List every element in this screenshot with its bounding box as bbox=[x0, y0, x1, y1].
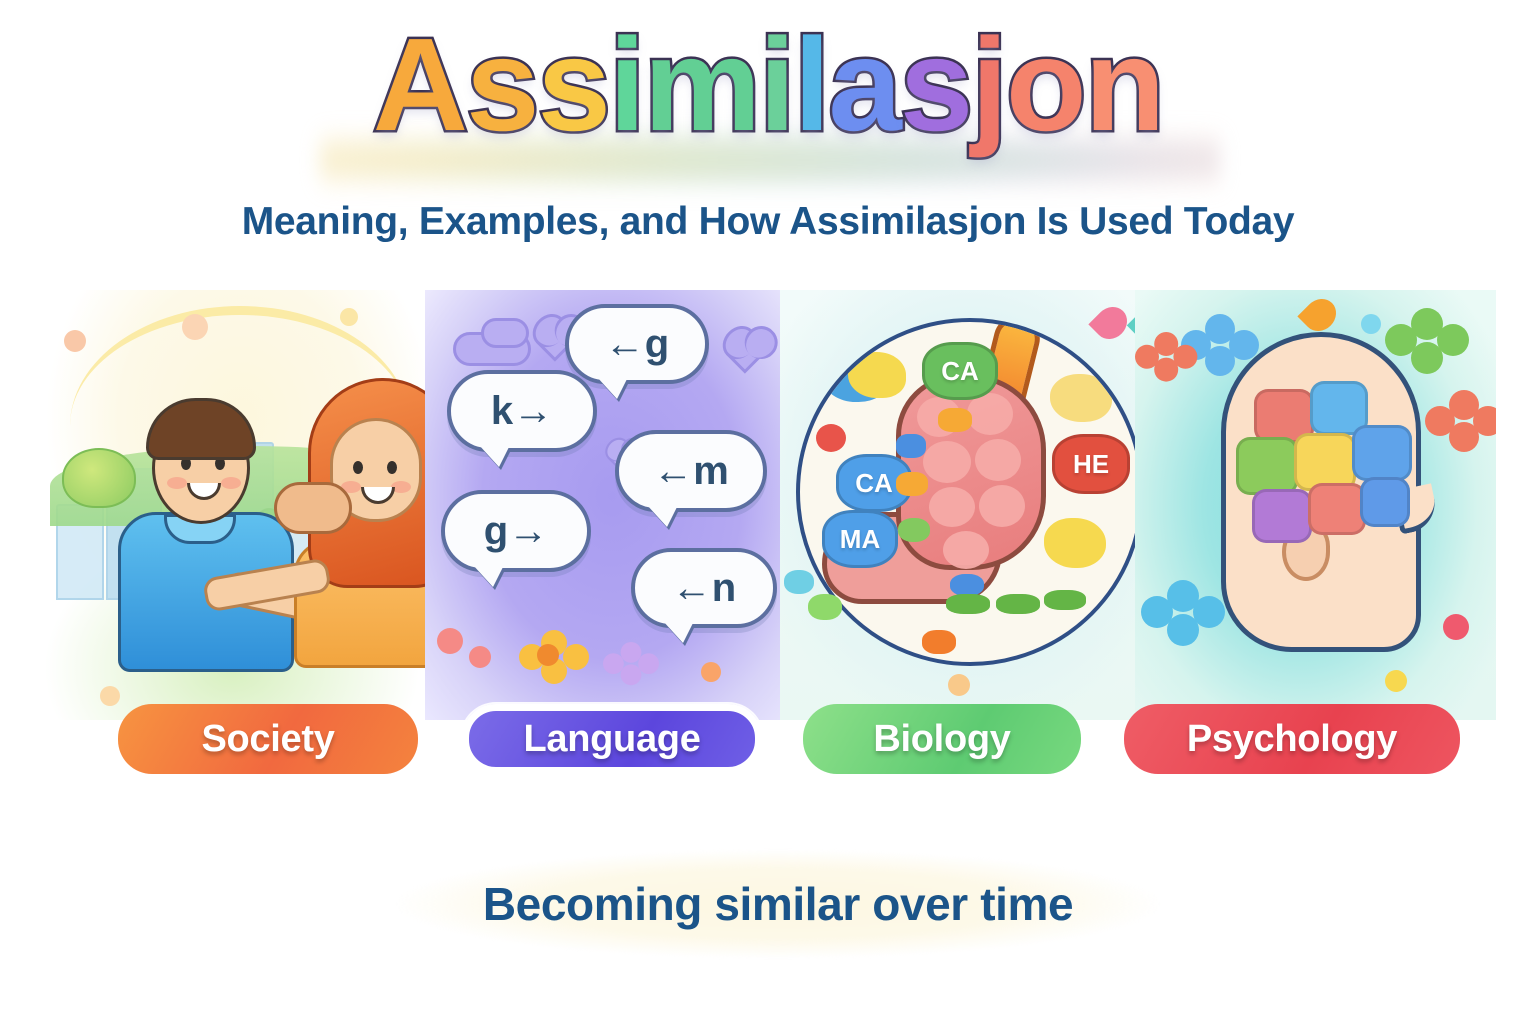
panel-language: ←g k→ ←m g→ ←n bbox=[425, 290, 785, 720]
speech-bubble-m-backward: ←m bbox=[615, 430, 767, 512]
caption-banner: Becoming similar over time bbox=[368, 850, 1188, 958]
handshake bbox=[274, 482, 352, 534]
category-pill-psychology[interactable]: Psychology bbox=[1124, 704, 1460, 774]
caption-text: Becoming similar over time bbox=[368, 850, 1188, 958]
page-title: Assimilasjon bbox=[373, 16, 1163, 155]
title-letter: a bbox=[828, 16, 899, 155]
title-letter: s bbox=[466, 16, 537, 155]
title-letter: l bbox=[794, 16, 829, 155]
speech-bubble-g-forward: g→ bbox=[441, 490, 591, 572]
title-letter: j bbox=[971, 16, 1006, 155]
title-letter: m bbox=[644, 16, 759, 155]
speech-bubble-k-forward: k→ bbox=[447, 370, 597, 452]
panel-biology: CA CA MA HE bbox=[780, 290, 1160, 720]
title-letter: o bbox=[1006, 16, 1085, 155]
speech-bubble-g-backward: ←g bbox=[565, 304, 709, 384]
title-letter: s bbox=[538, 16, 609, 155]
category-pill-row: Society Language Biology Psychology bbox=[40, 700, 1496, 780]
category-pill-biology[interactable]: Biology bbox=[803, 704, 1081, 774]
title-container: Assimilasjon bbox=[0, 16, 1536, 155]
panel-society bbox=[40, 290, 440, 720]
petri-dish-circle: CA CA MA HE bbox=[796, 318, 1144, 666]
nutrient-label-he-red: HE bbox=[1052, 434, 1130, 494]
category-pill-language[interactable]: Language bbox=[462, 704, 762, 774]
head-profile bbox=[1221, 332, 1421, 652]
man-hair bbox=[146, 398, 256, 460]
title-letter: s bbox=[900, 16, 971, 155]
cloud-decoration bbox=[481, 318, 529, 348]
page-subtitle: Meaning, Examples, and How Assimilasjon … bbox=[0, 200, 1536, 244]
title-letter: A bbox=[373, 16, 466, 155]
speech-bubble-n-backward: ←n bbox=[631, 548, 777, 628]
category-pill-society[interactable]: Society bbox=[118, 704, 418, 774]
title-letter: i bbox=[609, 16, 644, 155]
title-letter: n bbox=[1085, 16, 1164, 155]
panel-psychology bbox=[1135, 290, 1496, 720]
nutrient-label-ma-blue: MA bbox=[822, 510, 898, 568]
nutrient-label-ca-green: CA bbox=[922, 342, 998, 400]
title-letter: i bbox=[759, 16, 794, 155]
